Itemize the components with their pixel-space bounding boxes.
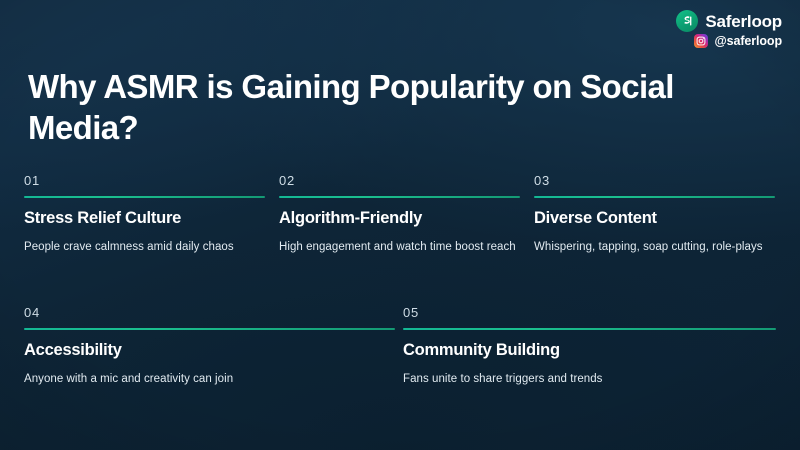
item-title: Algorithm-Friendly [279,209,520,229]
item-title: Stress Relief Culture [24,209,265,229]
brand-handle: @saferloop [715,35,782,48]
item-divider [24,328,395,330]
saferloop-logo-icon [676,10,698,32]
list-item-02: 02 Algorithm-Friendly High engagement an… [279,174,520,257]
item-title: Community Building [403,341,776,361]
list-item-03: 03 Diverse Content Whispering, tapping, … [534,174,775,257]
item-number: 02 [279,174,520,187]
item-description: Whispering, tapping, soap cutting, role-… [534,238,772,257]
brand-block: Saferloop @saferloop [676,10,782,48]
list-item-01: 01 Stress Relief Culture People crave ca… [24,174,265,257]
items-row-bottom: 04 Accessibility Anyone with a mic and c… [24,306,776,389]
item-divider [279,196,520,198]
item-number: 05 [403,306,776,319]
item-divider [403,328,776,330]
item-divider [534,196,775,198]
brand-handle-row[interactable]: @saferloop [694,34,782,48]
instagram-icon [694,34,708,48]
item-description: People crave calmness amid daily chaos [24,238,262,257]
item-number: 04 [24,306,395,319]
list-item-05: 05 Community Building Fans unite to shar… [403,306,776,389]
item-description: Anyone with a mic and creativity can joi… [24,370,384,389]
items-row-top: 01 Stress Relief Culture People crave ca… [24,174,776,257]
item-title: Diverse Content [534,209,775,229]
item-divider [24,196,265,198]
item-title: Accessibility [24,341,395,361]
page-title: Why ASMR is Gaining Popularity on Social… [28,67,728,148]
item-number: 01 [24,174,265,187]
item-description: Fans unite to share triggers and trends [403,370,763,389]
list-item-04: 04 Accessibility Anyone with a mic and c… [24,306,395,389]
slide-canvas: Saferloop @saferloop Why ASMR is Gaining… [0,0,800,450]
item-description: High engagement and watch time boost rea… [279,238,517,257]
brand-name: Saferloop [705,13,782,30]
item-number: 03 [534,174,775,187]
brand-logo-row: Saferloop [676,10,782,32]
